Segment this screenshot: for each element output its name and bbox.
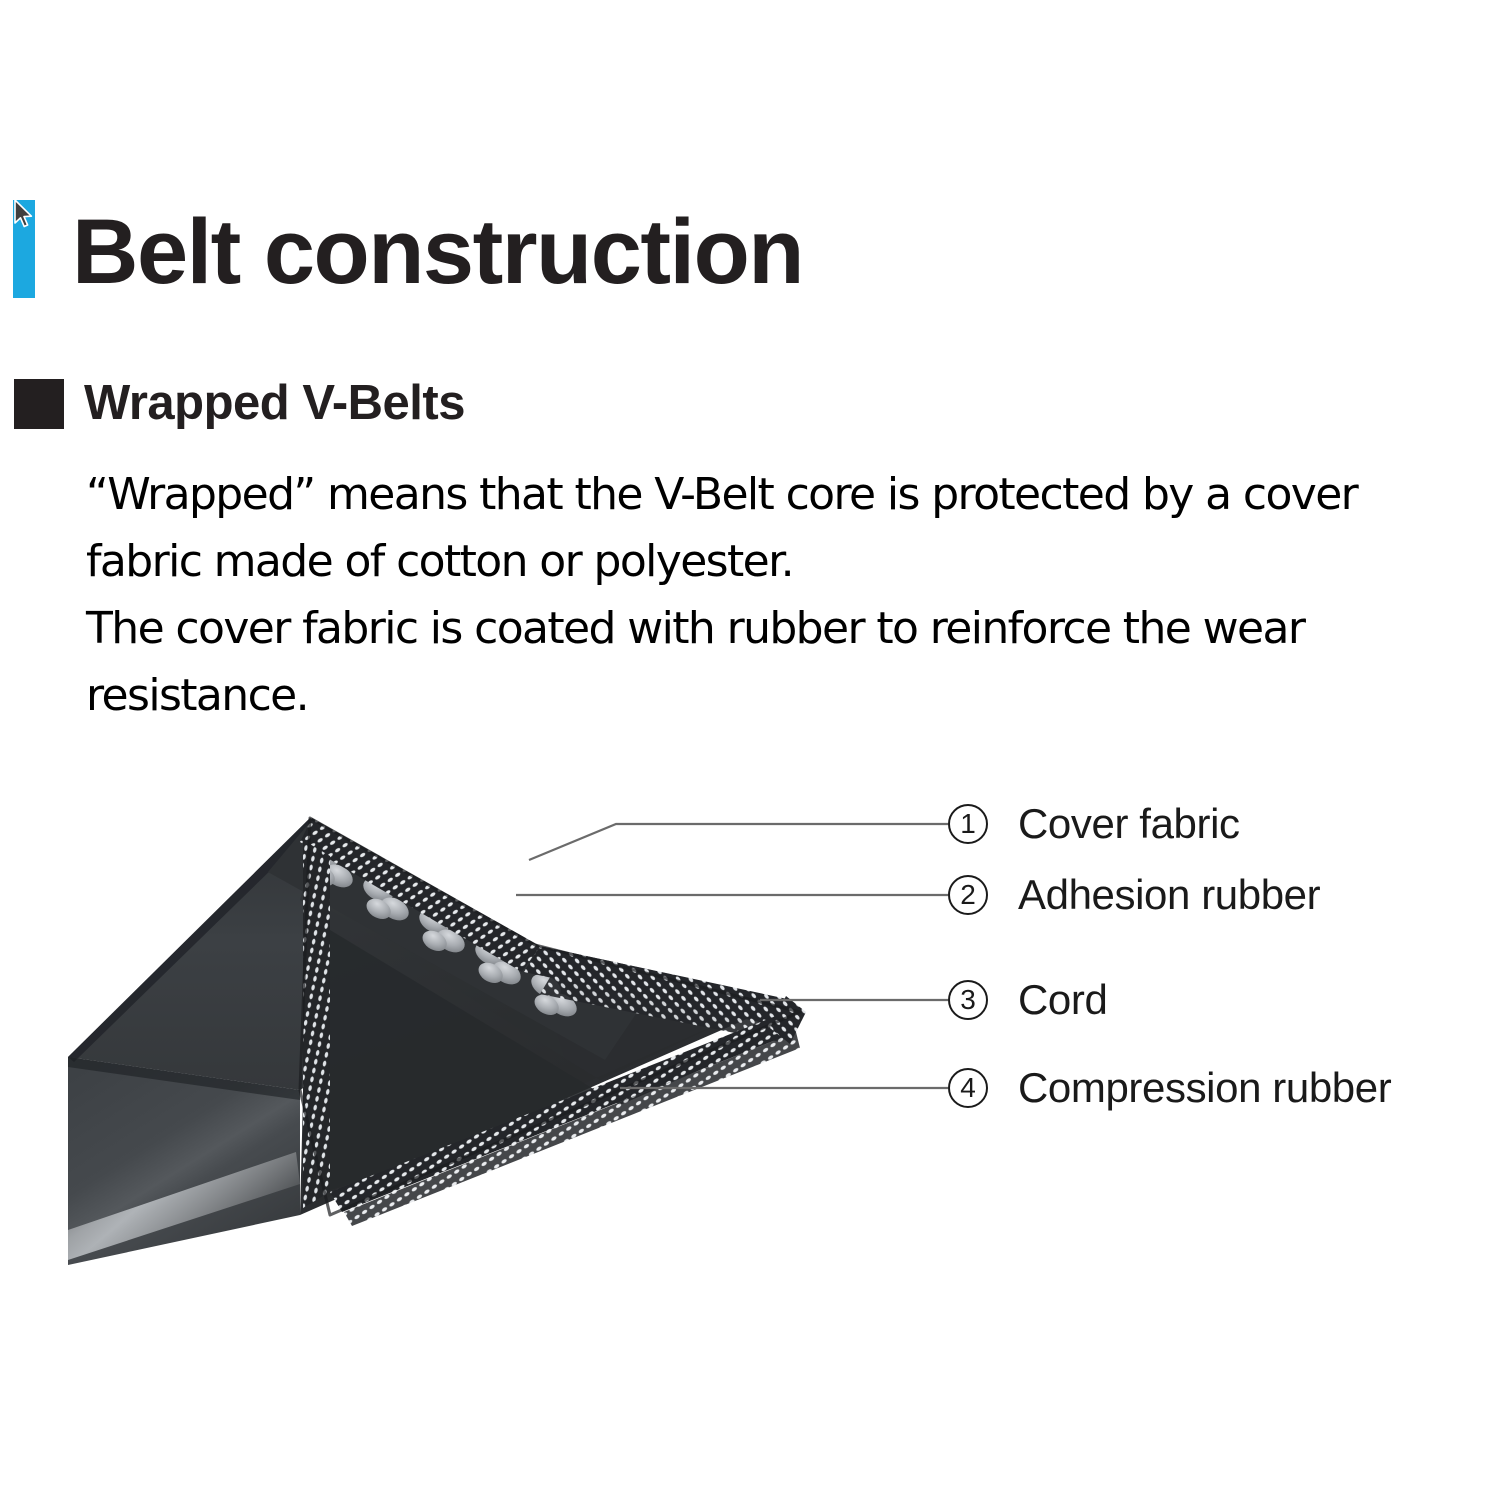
page-title: Belt construction <box>72 206 803 298</box>
body-paragraph-2: The cover fabric is coated with rubber t… <box>86 596 1476 730</box>
title-accent-bar <box>13 200 35 298</box>
leader-line-1 <box>529 824 948 860</box>
legend-number-1: 1 <box>948 804 988 844</box>
section-heading: Wrapped V-Belts <box>84 378 465 429</box>
legend-label-3: Cord <box>1018 976 1107 1024</box>
legend-item-4[interactable]: 4 Compression rubber <box>948 1065 1391 1111</box>
legend-item-1[interactable]: 1 Cover fabric <box>948 801 1240 847</box>
legend-item-2[interactable]: 2 Adhesion rubber <box>948 872 1320 918</box>
body-paragraph-1: “Wrapped” means that the V-Belt core is … <box>86 462 1476 596</box>
legend-number-2: 2 <box>948 875 988 915</box>
legend-label-1: Cover fabric <box>1018 800 1240 848</box>
body-text: “Wrapped” means that the V-Belt core is … <box>86 462 1476 730</box>
legend-item-3[interactable]: 3 Cord <box>948 977 1107 1023</box>
legend-number-3: 3 <box>948 980 988 1020</box>
slide-root: Belt construction Wrapped V-Belts “Wrapp… <box>0 0 1500 1500</box>
belt-illustration <box>0 760 1500 1340</box>
belt-construction-figure: 1 Cover fabric 2 Adhesion rubber 3 Cord … <box>0 760 1500 1340</box>
section-bullet-icon <box>14 379 64 429</box>
legend-label-4: Compression rubber <box>1018 1064 1391 1112</box>
legend-number-4: 4 <box>948 1068 988 1108</box>
legend-label-2: Adhesion rubber <box>1018 871 1320 919</box>
